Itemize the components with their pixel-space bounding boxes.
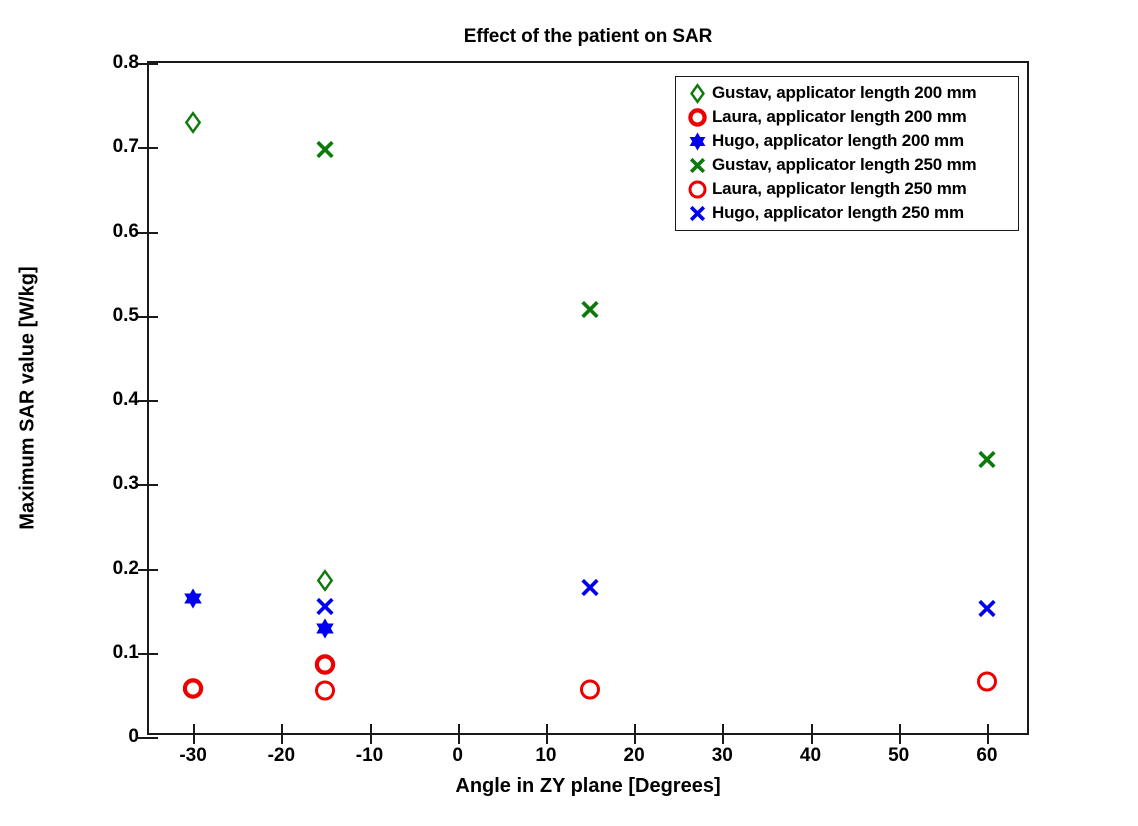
data-point-marker[interactable]	[579, 298, 602, 326]
x-tick-label: 0	[452, 745, 463, 767]
x-tick-label: 30	[712, 745, 733, 767]
y-tick-mark	[138, 737, 149, 739]
x-tick-mark	[458, 733, 460, 744]
legend-item[interactable]: Gustav, applicator length 250 mm	[682, 153, 1010, 177]
legend-item-label: Laura, applicator length 250 mm	[712, 179, 967, 199]
data-point-marker[interactable]	[182, 587, 205, 615]
x-tick-label: -10	[356, 745, 383, 767]
x-tick-label: 10	[535, 745, 556, 767]
chart-title: Effect of the patient on SAR	[147, 26, 1029, 48]
y-tick-mark-inner	[149, 63, 158, 65]
x-tick-label: 40	[800, 745, 821, 767]
legend-item[interactable]: Gustav, applicator length 200 mm	[682, 81, 1010, 105]
x-axis-title: Angle in ZY plane [Degrees]	[455, 775, 720, 798]
y-tick-label: 0.5	[113, 305, 139, 327]
y-tick-mark-inner	[149, 737, 158, 739]
legend-item-label: Gustav, applicator length 250 mm	[712, 155, 976, 175]
legend-marker-icon	[682, 130, 712, 152]
y-tick-label: 0.8	[113, 52, 139, 74]
y-tick-mark-inner	[149, 484, 158, 486]
y-tick-label: 0.6	[113, 221, 139, 243]
y-tick-mark	[138, 400, 149, 402]
y-tick-mark	[138, 316, 149, 318]
x-tick-mark-inner	[634, 724, 636, 733]
legend-marker-icon	[682, 154, 712, 176]
legend: Gustav, applicator length 200 mmLaura, a…	[675, 76, 1019, 231]
data-point-marker[interactable]	[314, 595, 337, 623]
y-tick-mark	[138, 653, 149, 655]
y-tick-mark-inner	[149, 653, 158, 655]
y-tick-label: 0.3	[113, 473, 139, 495]
y-tick-mark-inner	[149, 316, 158, 318]
legend-item-label: Laura, applicator length 200 mm	[712, 107, 967, 127]
x-tick-mark	[722, 733, 724, 744]
x-tick-mark-inner	[458, 724, 460, 733]
y-tick-label: 0.1	[113, 642, 139, 664]
x-tick-mark	[546, 733, 548, 744]
y-tick-label: 0.2	[113, 558, 139, 580]
y-tick-mark-inner	[149, 400, 158, 402]
x-tick-mark-inner	[987, 724, 989, 733]
y-tick-mark	[138, 569, 149, 571]
x-tick-mark-inner	[899, 724, 901, 733]
x-tick-mark	[899, 733, 901, 744]
legend-marker-icon	[682, 202, 712, 224]
data-point-marker[interactable]	[975, 448, 998, 476]
x-tick-mark	[811, 733, 813, 744]
y-tick-mark	[138, 147, 149, 149]
y-axis-title: Maximum SAR value [W/kg]	[17, 266, 40, 529]
x-tick-mark	[281, 733, 283, 744]
data-point-marker[interactable]	[314, 569, 337, 597]
x-tick-label: -30	[179, 745, 206, 767]
y-tick-mark-inner	[149, 147, 158, 149]
legend-item[interactable]: Laura, applicator length 200 mm	[682, 105, 1010, 129]
y-tick-mark-inner	[149, 569, 158, 571]
legend-item[interactable]: Hugo, applicator length 250 mm	[682, 201, 1010, 225]
x-tick-label: 60	[976, 745, 997, 767]
data-point-marker[interactable]	[975, 597, 998, 625]
y-tick-mark	[138, 63, 149, 65]
legend-marker-icon	[682, 178, 712, 200]
legend-item[interactable]: Hugo, applicator length 200 mm	[682, 129, 1010, 153]
x-tick-label: -20	[268, 745, 295, 767]
x-tick-mark-inner	[722, 724, 724, 733]
data-point-marker[interactable]	[182, 677, 205, 705]
y-tick-label: 0.4	[113, 389, 139, 411]
y-tick-mark	[138, 484, 149, 486]
x-tick-mark-inner	[811, 724, 813, 733]
x-tick-mark-inner	[193, 724, 195, 733]
y-tick-label: 0	[128, 726, 139, 748]
x-tick-mark-inner	[546, 724, 548, 733]
y-tick-mark	[138, 232, 149, 234]
y-tick-mark-inner	[149, 232, 158, 234]
x-tick-mark	[634, 733, 636, 744]
x-tick-mark-inner	[370, 724, 372, 733]
data-point-marker[interactable]	[314, 679, 337, 707]
data-point-marker[interactable]	[975, 670, 998, 698]
x-tick-label: 20	[624, 745, 645, 767]
legend-marker-icon	[682, 106, 712, 128]
data-point-marker[interactable]	[314, 138, 337, 166]
x-tick-mark-inner	[281, 724, 283, 733]
x-tick-mark	[370, 733, 372, 744]
figure-canvas: Effect of the patient on SAR Maximum SAR…	[0, 0, 1138, 826]
y-tick-label: 0.7	[113, 136, 139, 158]
legend-item[interactable]: Laura, applicator length 250 mm	[682, 177, 1010, 201]
data-point-marker[interactable]	[182, 111, 205, 139]
legend-item-label: Hugo, applicator length 250 mm	[712, 203, 964, 223]
data-point-marker[interactable]	[314, 653, 337, 681]
legend-marker-icon	[682, 82, 712, 104]
x-tick-mark	[193, 733, 195, 744]
x-tick-mark	[987, 733, 989, 744]
legend-item-label: Gustav, applicator length 200 mm	[712, 83, 976, 103]
legend-item-label: Hugo, applicator length 200 mm	[712, 131, 964, 151]
x-tick-label: 50	[888, 745, 909, 767]
data-point-marker[interactable]	[579, 576, 602, 604]
data-point-marker[interactable]	[579, 678, 602, 706]
